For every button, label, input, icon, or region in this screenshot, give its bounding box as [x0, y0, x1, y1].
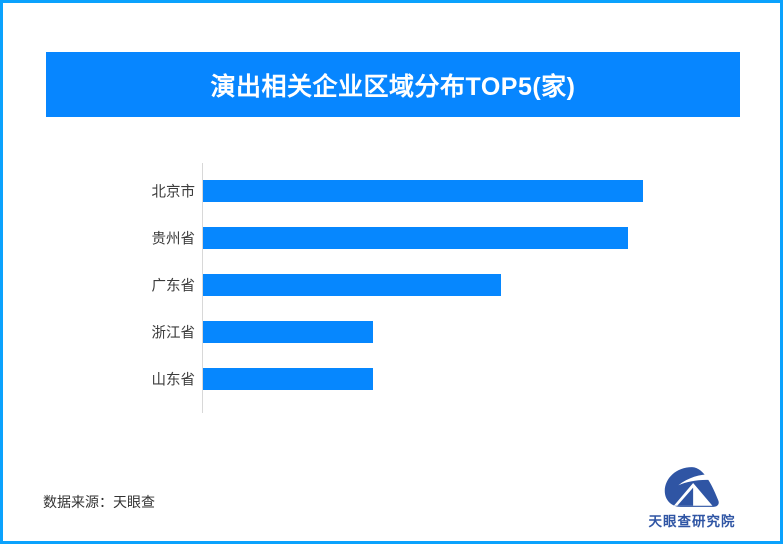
bar-row: 广东省 [3, 261, 783, 308]
title-banner: 演出相关企业区域分布TOP5(家) [46, 52, 740, 117]
bar-value-浙江省 [203, 321, 373, 343]
bar-value-广东省 [203, 274, 501, 296]
bar-category-label: 北京市 [63, 180, 195, 201]
bar-value-贵州省 [203, 227, 628, 249]
brand-logo: 天眼查研究院 [632, 466, 752, 534]
chart-page: 演出相关企业区域分布TOP5(家) 北京市 贵州省 广东省 浙江省 山东省 数据… [0, 0, 783, 544]
page-title: 演出相关企业区域分布TOP5(家) [211, 67, 576, 103]
bar-category-label: 贵州省 [63, 227, 195, 248]
bar-row: 贵州省 [3, 214, 783, 261]
bar-value-山东省 [203, 368, 373, 390]
bar-category-label: 广东省 [63, 274, 195, 295]
data-source-note: 数据来源：天眼查 [43, 492, 155, 512]
brand-logo-text: 天眼查研究院 [649, 510, 736, 530]
bar-value-北京市 [203, 180, 643, 202]
bar-category-label: 山东省 [63, 368, 195, 389]
bar-row: 山东省 [3, 355, 783, 402]
bar-row: 北京市 [3, 167, 783, 214]
bar-chart-plot-area: 北京市 贵州省 广东省 浙江省 山东省 [3, 153, 783, 408]
tianyancha-eye-logo-icon [663, 466, 721, 508]
bar-row: 浙江省 [3, 308, 783, 355]
bar-category-label: 浙江省 [63, 321, 195, 342]
